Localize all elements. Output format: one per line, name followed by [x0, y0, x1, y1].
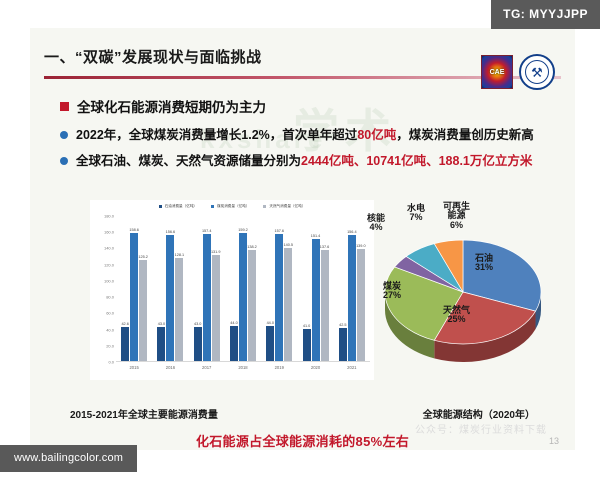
bar: 156.6 — [166, 235, 174, 362]
bar: 151.4 — [312, 239, 320, 362]
y-axis-tick: 160.0 — [90, 230, 114, 235]
bullet-1-part-0: 2022年，全球煤炭消费量增长1.2%，首次单年超过 — [76, 128, 357, 142]
bar-chart-bars: 42.6158.6125.2201543.0156.6128.1201643.0… — [116, 216, 370, 362]
bar-value-label: 137.6 — [320, 245, 330, 249]
bar-value-label: 157.4 — [202, 229, 212, 233]
legend-item-0: 石油消费量（亿吨） — [159, 204, 197, 209]
legend-item-2: 天然气消费量（亿吨） — [263, 204, 305, 209]
bar-group: 42.6158.6125.22015 — [116, 216, 152, 362]
y-axis-tick: 60.0 — [90, 311, 114, 316]
x-axis-tick: 2015 — [129, 365, 138, 370]
bar: 42.6 — [121, 327, 129, 362]
university-seal-icon: ⚒ — [519, 54, 555, 90]
bar: 44.0 — [266, 326, 274, 362]
bar-group: 43.0156.6128.12016 — [152, 216, 188, 362]
bar: 156.4 — [348, 235, 356, 362]
tg-tag-overlay: TG: MYYJJPP — [491, 0, 600, 29]
y-axis-tick: 0.0 — [90, 360, 114, 365]
y-axis-tick: 140.0 — [90, 246, 114, 251]
bar-value-label: 151.4 — [311, 234, 321, 238]
bar-value-label: 138.2 — [247, 245, 257, 249]
y-axis-tick: 180.0 — [90, 214, 114, 219]
pie-label-0: 石油31% — [475, 254, 493, 273]
x-axis-tick: 2019 — [275, 365, 284, 370]
pie-label-value: 6% — [443, 221, 470, 230]
bar-value-label: 41.0 — [303, 324, 310, 328]
bar-value-label: 42.5 — [339, 323, 346, 327]
x-axis-tick: 2016 — [166, 365, 175, 370]
bar-value-label: 44.0 — [267, 321, 274, 325]
pie-label-4: 水电7% — [407, 204, 425, 223]
slide-header: 一、“双碳”发展现状与面临挑战 CAE ⚒ — [44, 46, 561, 90]
dot-bullet-icon — [60, 131, 68, 139]
bullet-2-highlight: 2444亿吨、10741亿吨、188.1万亿立方米 — [301, 154, 532, 168]
legend-swatch-icon — [263, 205, 266, 208]
bar-value-label: 159.2 — [238, 228, 248, 232]
y-axis-tick: 80.0 — [90, 295, 114, 300]
bullet-2-part-0: 全球石油、煤炭、天然气资源储量分别为 — [76, 154, 301, 168]
bar-value-label: 44.0 — [230, 321, 237, 325]
bar: 42.5 — [339, 328, 347, 362]
bar-group: 41.0151.4137.62020 — [297, 216, 333, 362]
pie-label-value: 7% — [407, 213, 425, 222]
bar: 158.6 — [130, 233, 138, 362]
pie-label-2: 煤炭27% — [383, 282, 401, 301]
bullet-heading: 全球化石能源消费短期仍为主力 — [60, 96, 555, 116]
list-item: 全球石油、煤炭、天然气资源储量分别为2444亿吨、10741亿吨、188.1万亿… — [60, 154, 555, 170]
pie-label-value: 4% — [367, 223, 385, 232]
bar-value-label: 140.5 — [284, 243, 294, 247]
cae-logo-icon: CAE — [481, 55, 513, 89]
bar-value-label: 158.6 — [129, 228, 139, 232]
legend-swatch-icon — [159, 205, 162, 208]
legend-item-1: 煤炭消费量（亿吨） — [211, 204, 249, 209]
bar-value-label: 42.6 — [121, 322, 128, 326]
bar-value-label: 43.0 — [194, 322, 201, 326]
y-axis-tick: 20.0 — [90, 343, 114, 348]
pie-label-value: 27% — [383, 291, 401, 300]
pie-label-value: 31% — [475, 263, 493, 272]
bar-chart-xaxis — [116, 361, 370, 362]
bullet-text-2: 全球石油、煤炭、天然气资源储量分别为2444亿吨、10741亿吨、188.1万亿… — [76, 154, 532, 170]
bar: 139.0 — [357, 249, 365, 362]
pie-label-1: 天然气25% — [443, 306, 470, 325]
dot-bullet-icon — [60, 157, 68, 165]
pie-label-name: 可再生能源 — [443, 202, 470, 221]
y-axis-tick: 100.0 — [90, 278, 114, 283]
pie-chart-caption: 全球能源结构（2020年） — [423, 406, 535, 421]
bar-chart-plot: 0.020.040.060.080.0100.0120.0140.0160.01… — [116, 216, 370, 362]
bar: 137.6 — [321, 250, 329, 362]
bullet-text-1: 2022年，全球煤炭消费量增长1.2%，首次单年超过80亿吨，煤炭消费量创历史新… — [76, 128, 534, 144]
bar: 43.0 — [194, 327, 202, 362]
legend-label: 煤炭消费量（亿吨） — [217, 204, 249, 209]
bullet-1-highlight: 80亿吨 — [357, 128, 396, 142]
bar: 44.0 — [230, 326, 238, 362]
bar-value-label: 156.4 — [347, 230, 357, 234]
bar-chart-caption: 2015-2021年全球主要能源消费量 — [70, 406, 218, 421]
x-axis-tick: 2017 — [202, 365, 211, 370]
pie-chart: 石油31%天然气25%煤炭27%核能4%水电7%可再生能源6% — [365, 202, 561, 380]
bar-value-label: 157.6 — [275, 229, 285, 233]
bar: 128.1 — [175, 258, 183, 362]
pie-label-value: 25% — [443, 315, 470, 324]
bar: 140.5 — [284, 248, 292, 362]
bullet-list: 全球化石能源消费短期仍为主力 2022年，全球煤炭消费量增长1.2%，首次单年超… — [60, 96, 555, 179]
pie-label-3: 核能4% — [367, 214, 385, 233]
square-bullet-icon — [60, 102, 69, 111]
site-tag-overlay: www.bailingcolor.com — [0, 445, 137, 472]
slide-canvas: 学术 kxshare 一、“双碳”发展现状与面临挑战 CAE ⚒ 全球化石能源消… — [30, 28, 575, 450]
bar-value-label: 43.0 — [158, 322, 165, 326]
pie-label-5: 可再生能源6% — [443, 202, 470, 230]
pie-chart-labels: 石油31%天然气25%煤炭27%核能4%水电7%可再生能源6% — [365, 202, 561, 380]
bar: 125.2 — [139, 260, 147, 362]
bar: 41.0 — [303, 329, 311, 362]
bullet-1-part-2: ，煤炭消费量创历史新高 — [396, 128, 534, 142]
bullet-heading-label: 全球化石能源消费短期仍为主力 — [77, 96, 266, 116]
y-axis-tick: 40.0 — [90, 327, 114, 332]
x-axis-tick: 2018 — [238, 365, 247, 370]
y-axis-tick: 120.0 — [90, 262, 114, 267]
page-number: 13 — [549, 436, 559, 446]
bar: 157.6 — [275, 234, 283, 362]
legend-label: 天然气消费量（亿吨） — [269, 204, 305, 209]
legend-swatch-icon — [211, 205, 214, 208]
list-item: 2022年，全球煤炭消费量增长1.2%，首次单年超过80亿吨，煤炭消费量创历史新… — [60, 128, 555, 144]
bar-value-label: 128.1 — [175, 253, 185, 257]
bar-group: 44.0159.2138.22018 — [225, 216, 261, 362]
charts-area: 石油消费量（亿吨）煤炭消费量（亿吨）天然气消费量（亿吨） 0.020.040.0… — [44, 200, 565, 410]
bar-group: 43.0157.4131.92017 — [189, 216, 225, 362]
x-axis-tick: 2020 — [311, 365, 320, 370]
bar-value-label: 131.9 — [211, 250, 221, 254]
logo-group: CAE ⚒ — [481, 54, 555, 90]
bar: 138.2 — [248, 250, 256, 362]
legend-label: 石油消费量（亿吨） — [165, 204, 197, 209]
bar-chart: 石油消费量（亿吨）煤炭消费量（亿吨）天然气消费量（亿吨） 0.020.040.0… — [90, 200, 374, 380]
bar: 131.9 — [212, 255, 220, 362]
bar-value-label: 125.2 — [138, 255, 148, 259]
bar: 157.4 — [203, 234, 211, 362]
bar: 159.2 — [239, 233, 247, 362]
bar-chart-legend: 石油消费量（亿吨）煤炭消费量（亿吨）天然气消费量（亿吨） — [90, 200, 374, 212]
x-axis-tick: 2021 — [347, 365, 356, 370]
bar-group: 44.0157.6140.52019 — [261, 216, 297, 362]
document-watermark: 公众号：煤炭行业资料下载 — [415, 421, 547, 436]
bar: 43.0 — [157, 327, 165, 362]
bar-value-label: 156.6 — [166, 230, 176, 234]
